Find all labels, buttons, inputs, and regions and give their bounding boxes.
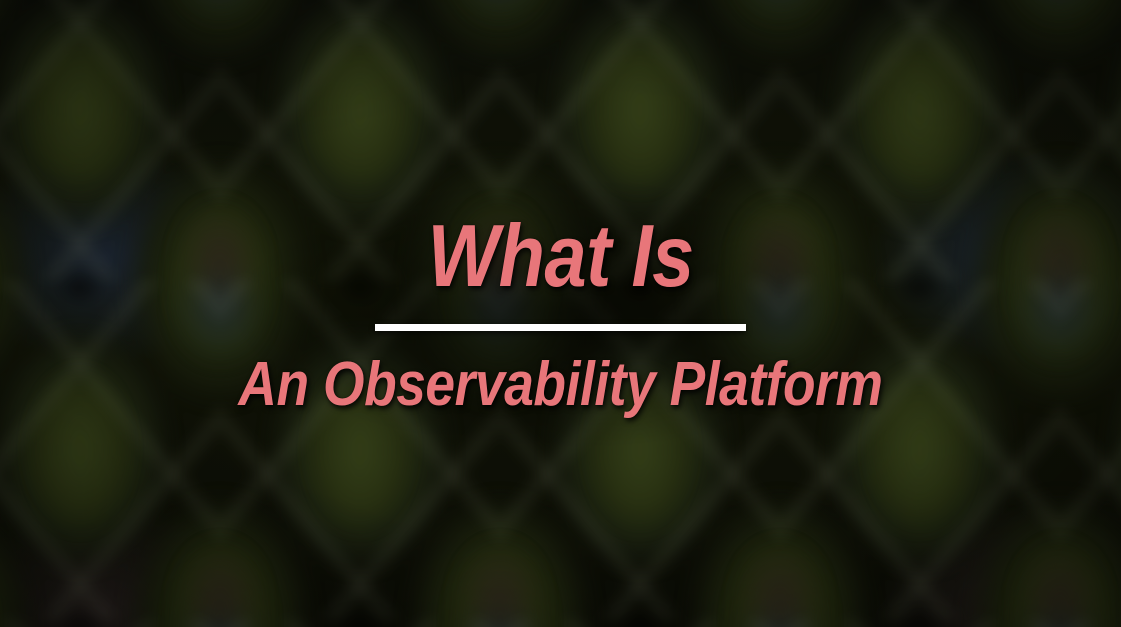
slide-title: What Is — [427, 212, 693, 300]
title-block: What Is An Observability Platform — [0, 0, 1121, 627]
title-slide: What Is An Observability Platform — [0, 0, 1121, 627]
title-divider — [375, 324, 746, 331]
slide-subtitle: An Observability Platform — [238, 354, 882, 416]
